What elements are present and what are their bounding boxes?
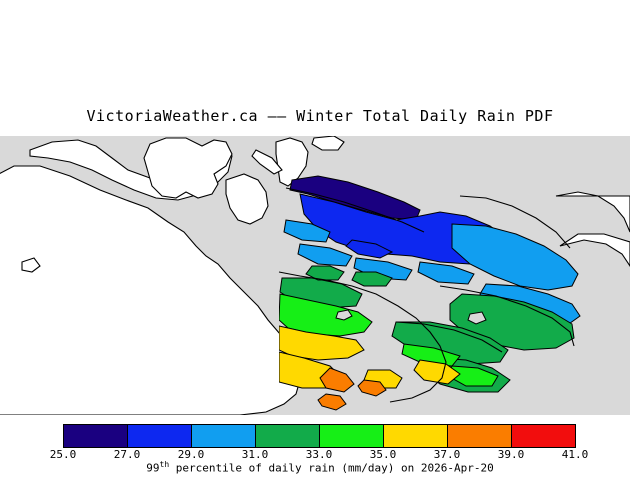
figure-title: VictoriaWeather.ca —— Winter Total Daily…	[0, 107, 640, 125]
map-panel	[0, 136, 630, 415]
colorbar	[63, 424, 576, 448]
colorbar-band-39-41	[511, 425, 575, 447]
colorbar-band-27-29	[127, 425, 191, 447]
caption-rest: percentile of daily rain (mm/day) on 202…	[169, 462, 494, 475]
colorbar-band-37-39	[447, 425, 511, 447]
colorbar-band-29-31	[191, 425, 255, 447]
colorbar-caption: 99th percentile of daily rain (mm/day) o…	[0, 460, 640, 475]
map-canvas	[0, 136, 630, 415]
colorbar-band-33-35	[319, 425, 383, 447]
caption-prefix: 99	[146, 462, 159, 475]
caption-ordinal-suffix: th	[160, 460, 170, 469]
colorbar-band-31-33	[255, 425, 319, 447]
colorbar-band-35-37	[383, 425, 447, 447]
colorbar-bands	[63, 424, 576, 448]
colorbar-band-25-27	[64, 425, 127, 447]
weather-map-figure: VictoriaWeather.ca —— Winter Total Daily…	[0, 0, 640, 480]
